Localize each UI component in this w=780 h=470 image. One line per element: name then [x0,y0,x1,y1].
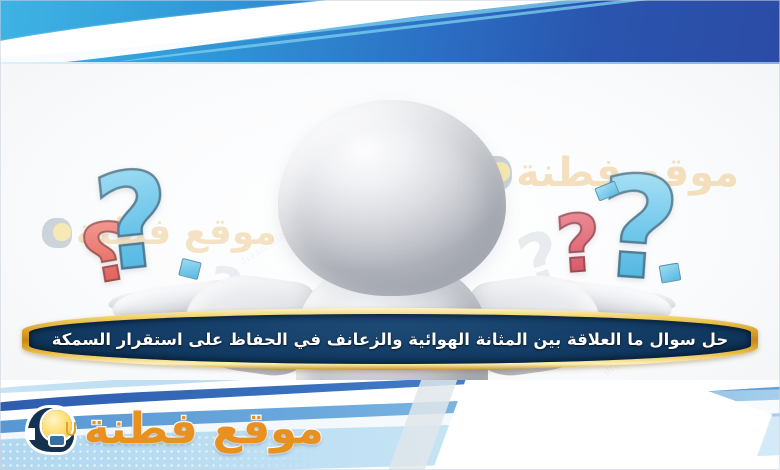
lightbulb-filament-icon [66,422,76,436]
title-banner: حل سوال ما العلاقة بين المثانة الهوائية … [22,308,758,370]
poster-canvas: dreamstime dreamstime dreamstime موقع فط… [0,0,780,470]
brand-logo-mark [28,404,80,454]
lightbulb-base-icon [50,436,64,445]
title-banner-inner: حل سوال ما العلاقة بين المثانة الهوائية … [29,314,751,364]
brand-logo[interactable]: موقع فطنة [28,404,324,454]
page-title: حل سوال ما العلاقة بين المثانة الهوائية … [34,330,747,349]
brand-logo-text: موقع فطنة [84,408,324,451]
header-banner [0,0,780,62]
figure-head [278,100,506,296]
